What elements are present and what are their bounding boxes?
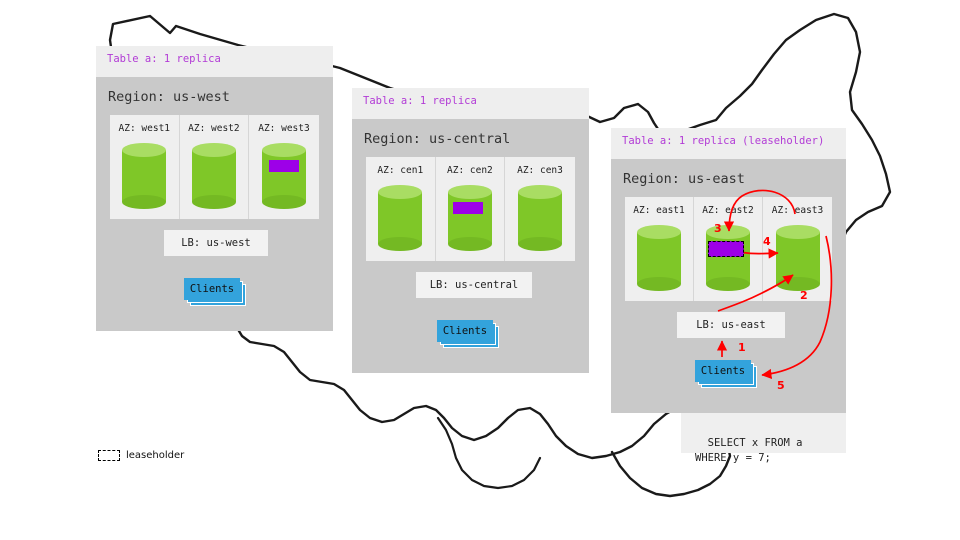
step-number-1: 1: [738, 341, 746, 354]
leaseholder-marker: [269, 160, 299, 172]
arrow-step-5: [762, 236, 831, 375]
arrow-step-3: [729, 190, 795, 231]
leaseholder-marker: [708, 241, 744, 257]
leaseholder-marker: [453, 202, 483, 214]
request-flow-arrows: 1 2 3 4 5: [0, 0, 960, 540]
step-number-4: 4: [763, 235, 771, 248]
step-number-5: 5: [777, 379, 785, 392]
step-number-2: 2: [800, 289, 808, 302]
arrow-step-2: [718, 275, 793, 311]
step-number-3: 3: [714, 222, 722, 235]
